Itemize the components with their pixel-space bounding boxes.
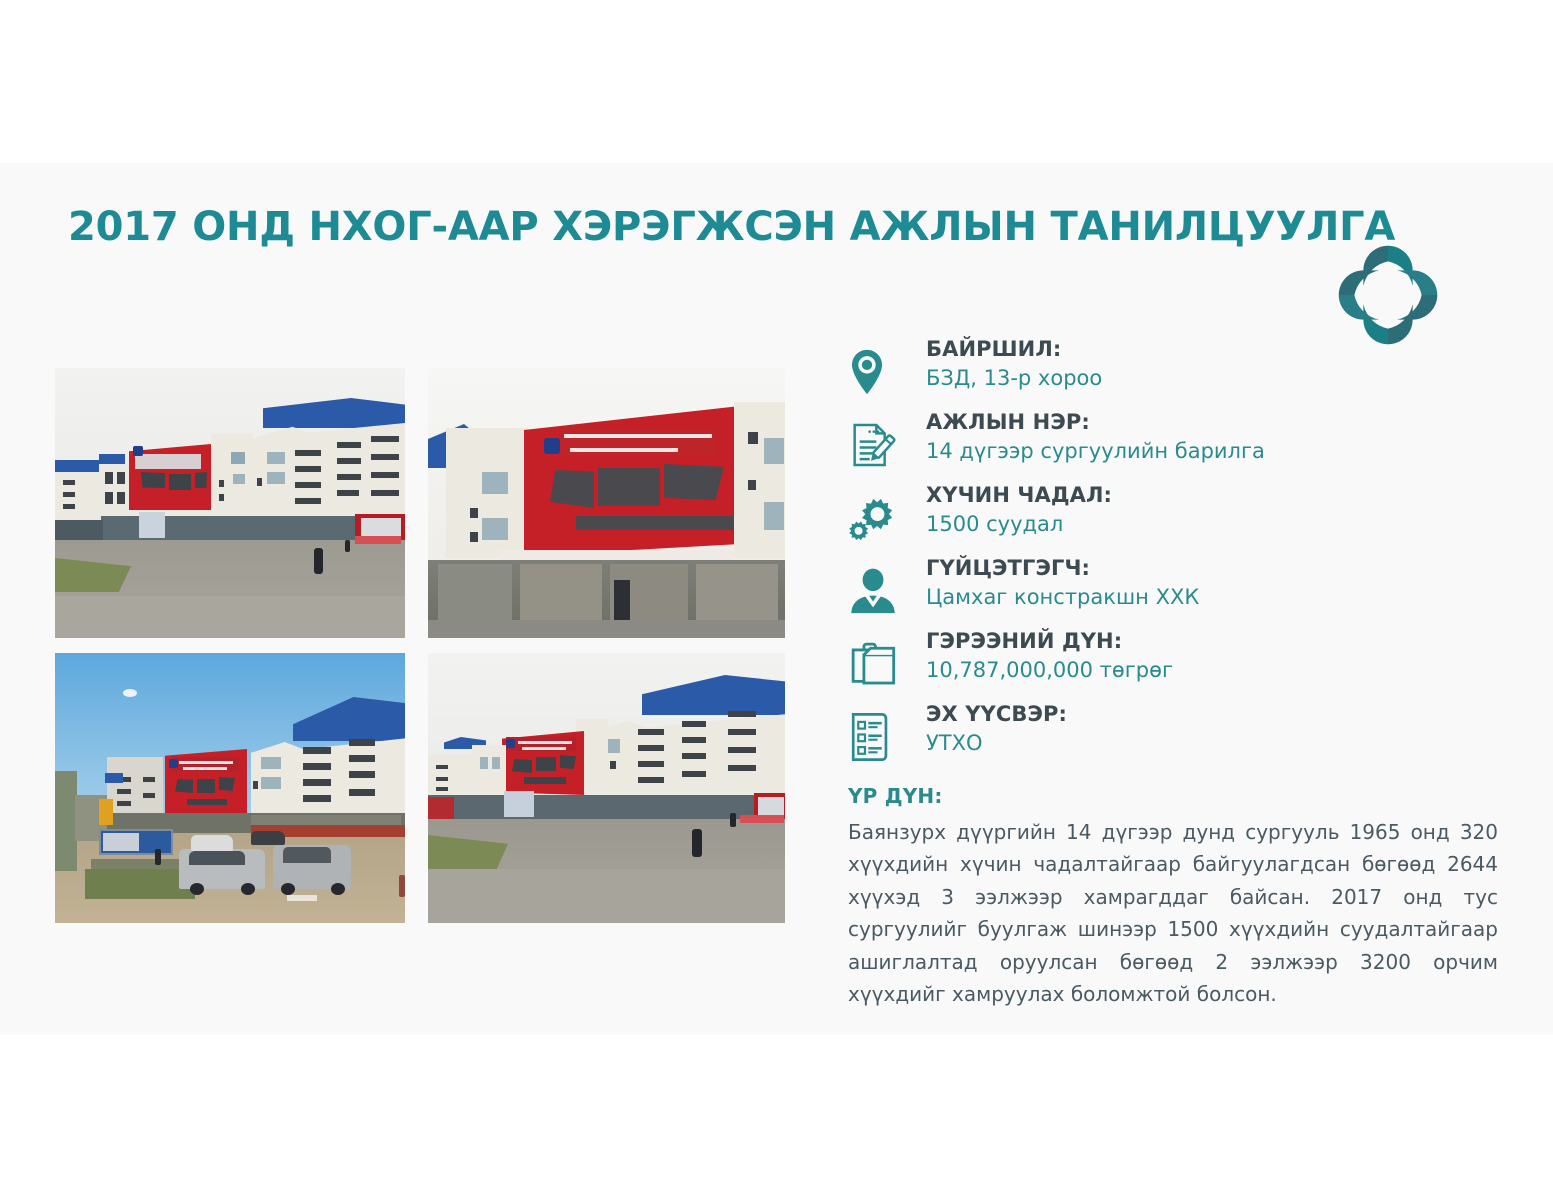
location-pin-icon [848,339,914,405]
slide-canvas: 2017 ОНД НХОГ-ААР ХЭРЭГЖСЭН АЖЛЫН ТАНИЛЦ… [0,163,1553,1035]
photo-grid [55,368,785,923]
info-row-funding-source: ЭХ ҮҮСВЭР: УТХО [848,701,1508,774]
person-icon [848,558,914,624]
checklist-icon [848,704,914,770]
info-row-capacity: ХҮЧИН ЧАДАЛ: 1500 суудал [848,482,1508,555]
info-label: ЭХ ҮҮСВЭР: [926,701,1508,727]
project-info-panel: БАЙРШИЛ: БЗД, 13-р хороо [848,336,1508,1010]
photo-school-courtyard-entrance [428,653,785,923]
photo-school-side-view-with-parked-cars [55,653,405,923]
info-row-location: БАЙРШИЛ: БЗД, 13-р хороо [848,336,1508,409]
page-title: 2017 ОНД НХОГ-ААР ХЭРЭГЖСЭН АЖЛЫН ТАНИЛЦ… [68,204,1395,250]
photo-school-red-facade-closeup [428,368,785,638]
info-label: БАЙРШИЛ: [926,336,1508,362]
info-value: 1500 суудал [926,510,1508,538]
info-row-contractor: ГҮЙЦЭТГЭГЧ: Цамхаг констракшн ХХК [848,555,1508,628]
info-label: ГЭРЭЭНИЙ ДҮН: [926,628,1508,654]
info-label: ГҮЙЦЭТГЭГЧ: [926,555,1508,581]
result-label: ҮР ДҮН: [848,784,1508,808]
info-row-work-name: АЖЛЫН НЭР: 14 дүгээр сургуулийн барилга [848,409,1508,482]
briefcase-doc-icon [848,631,914,697]
info-value: 10,787,000,000 төгрөг [926,656,1508,684]
info-label: ХҮЧИН ЧАДАЛ: [926,482,1508,508]
photo-school-front-exterior-wide [55,368,405,638]
gears-icon [848,485,914,551]
info-value: УТХО [926,729,1508,757]
info-value: Цамхаг констракшн ХХК [926,583,1508,611]
info-row-contract-amount: ГЭРЭЭНИЙ ДҮН: 10,787,000,000 төгрөг [848,628,1508,701]
info-value: БЗД, 13-р хороо [926,364,1508,392]
info-value: 14 дүгээр сургуулийн барилга [926,437,1508,465]
result-text: Баянзурх дүүргийн 14 дүгээр дунд сургуул… [848,816,1498,1010]
info-label: АЖЛЫН НЭР: [926,409,1508,435]
four-petal-flower-logo [1332,239,1444,351]
document-pencil-icon [848,412,914,478]
